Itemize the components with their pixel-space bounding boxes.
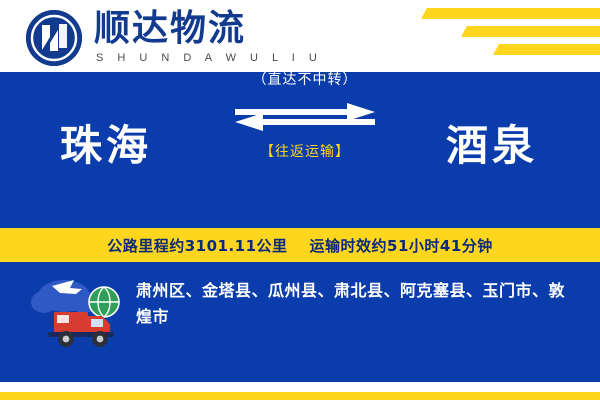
logo-swoosh-icon <box>26 10 82 66</box>
direct-tag: （直达不中转） <box>232 70 378 90</box>
double-arrow-icon <box>235 100 375 134</box>
info-bar: 公路里程约3101.11公里 运输时效约51小时41分钟 <box>0 228 600 262</box>
distance-text: 公路里程约3101.11公里 <box>107 235 287 256</box>
delivery-truck-icon <box>30 272 122 350</box>
stripe-3 <box>493 44 600 55</box>
brand-name-cn: 顺达物流 <box>94 10 322 48</box>
duration-text: 运输时效约51小时41分钟 <box>310 235 493 256</box>
logistics-route-poster: 顺达物流 S H U N D A W U L I U 珠海 （直达不中转） 【往… <box>0 0 600 400</box>
brand-text: 顺达物流 S H U N D A W U L I U <box>94 10 322 66</box>
coverage-section: 肃州区、金塔县、瓜州县、肃北县、阿克塞县、玉门市、敦煌市 <box>0 268 600 358</box>
route-middle: （直达不中转） 【往返运输】 <box>232 70 378 162</box>
brand-logo: 顺达物流 S H U N D A W U L I U <box>26 10 322 66</box>
roundtrip-tag: 【往返运输】 <box>232 142 378 162</box>
route-section: 珠海 （直达不中转） 【往返运输】 酒泉 <box>0 118 600 198</box>
brand-name-en: S H U N D A W U L I U <box>94 50 322 66</box>
coverage-areas-text: 肃州区、金塔县、瓜州县、肃北县、阿克塞县、玉门市、敦煌市 <box>136 278 576 330</box>
stripe-1 <box>421 8 600 19</box>
destination-city: 酒泉 <box>446 118 538 174</box>
bottom-yellow-bar <box>0 392 600 400</box>
poster-header: 顺达物流 S H U N D A W U L I U <box>0 0 600 72</box>
decorative-stripes <box>370 0 600 72</box>
origin-city: 珠海 <box>60 118 152 174</box>
stripe-2 <box>461 26 600 37</box>
